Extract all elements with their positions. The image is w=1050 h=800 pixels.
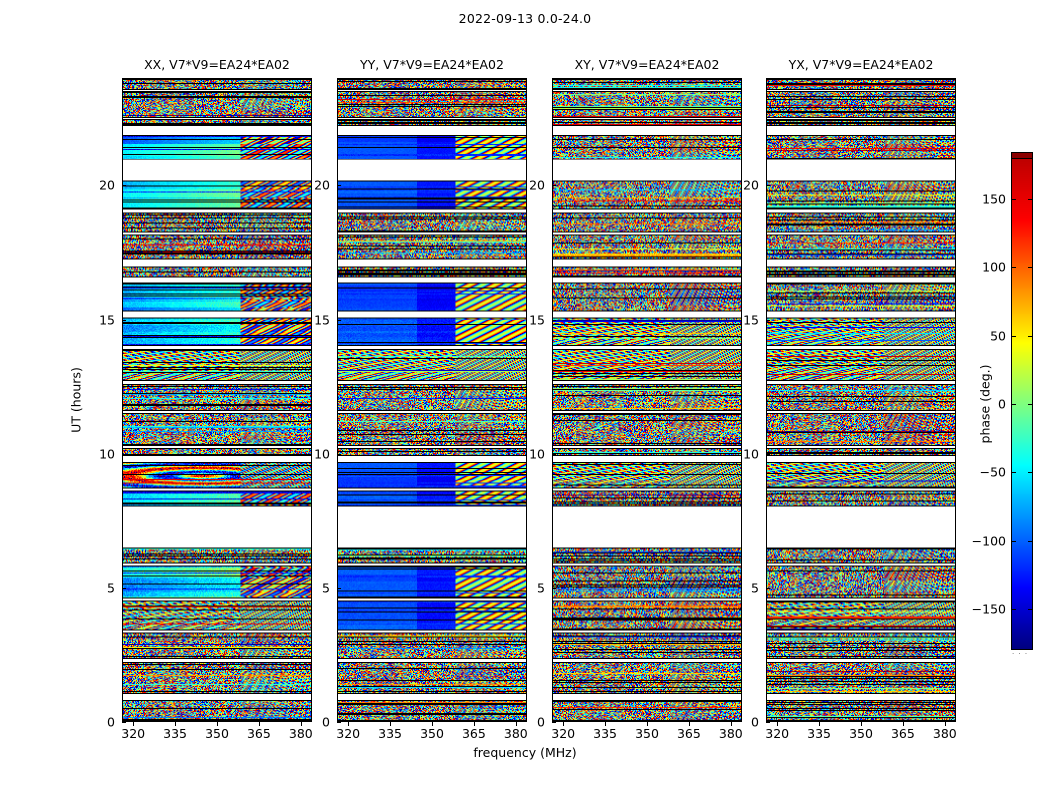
y-tick [766,454,770,455]
panel-title-yx: YX, V7*V9=EA24*EA02 [766,57,956,73]
y-tick [337,722,341,723]
y-tick-label: 10 [314,446,330,461]
colorbar-tick [1028,472,1033,473]
y-tick [766,588,770,589]
y-tick [766,320,770,321]
heatmap-image-yy [338,79,526,721]
y-tick-label: 10 [99,446,115,461]
colorbar-tick [1011,404,1016,405]
colorbar-tick [1028,609,1033,610]
y-tick-label: 20 [314,178,330,193]
y-tick [766,722,770,723]
y-tick [552,588,556,589]
y-tick [337,185,341,186]
y-tick-label: 5 [107,580,115,595]
y-tick [552,722,556,723]
heatmap-panel-yx[interactable] [766,78,956,722]
y-tick [337,320,341,321]
colorbar-tick [1011,199,1016,200]
heatmap-panel-yy[interactable] [337,78,527,722]
figure-canvas: 2022-09-13 0.0-24.0 XX, V7*V9=EA24*EA02 … [0,0,1050,800]
y-tick-label: 15 [529,312,545,327]
y-tick-label: 5 [322,580,330,595]
x-tick-label: 350 [849,726,873,741]
colorbar-tick [1028,199,1033,200]
y-tick [337,588,341,589]
y-tick-label: 15 [743,312,759,327]
y-tick-label: 0 [751,715,759,730]
x-tick-label: 320 [336,726,360,741]
colorbar-tick [1028,541,1033,542]
colorbar-tick [1011,541,1016,542]
y-tick-label: 5 [751,580,759,595]
x-tick-label: 380 [719,726,743,741]
y-tick [122,320,126,321]
y-tick-label: 5 [537,580,545,595]
colorbar-tick [1011,267,1016,268]
y-tick [122,185,126,186]
x-tick-label: 365 [891,726,915,741]
heatmap-panel-xy[interactable] [552,78,742,722]
y-tick-label: 20 [529,178,545,193]
y-tick [552,185,556,186]
y-tick-label: 0 [107,715,115,730]
y-tick [766,185,770,186]
x-tick-label: 320 [765,726,789,741]
y-tick-label: 10 [529,446,545,461]
x-tick-label: 380 [504,726,528,741]
heatmap-image-yx [767,79,955,721]
colorbar-tick [1011,609,1016,610]
panel-title-yy: YY, V7*V9=EA24*EA02 [337,57,527,73]
x-tick-label: 365 [247,726,271,741]
y-tick-label: 10 [743,446,759,461]
figure-suptitle: 2022-09-13 0.0-24.0 [0,11,1050,26]
x-tick-label: 335 [807,726,831,741]
x-tick-label: 335 [163,726,187,741]
x-tick-label: 335 [378,726,402,741]
x-tick-label: 380 [933,726,957,741]
colorbar-tick [1011,336,1016,337]
x-axis-label: frequency (MHz) [0,745,1050,760]
colorbar-tick-label: 100 [958,260,1006,275]
heatmap-panel-xx[interactable] [122,78,312,722]
x-tick-label: 350 [205,726,229,741]
heatmap-image-xx [123,79,311,721]
y-tick [122,454,126,455]
colorbar-under-cap: · · · · · [1012,652,1032,656]
y-tick [122,588,126,589]
x-tick-label: 320 [121,726,145,741]
heatmap-image-xy [553,79,741,721]
x-tick-label: 350 [635,726,659,741]
colorbar-tick-label: −100 [958,533,1006,548]
y-tick [552,320,556,321]
colorbar-tick [1028,267,1033,268]
y-axis-label: UT (hours) [69,367,84,433]
x-tick-label: 320 [551,726,575,741]
panel-title-xx: XX, V7*V9=EA24*EA02 [122,57,312,73]
x-tick-label: 380 [289,726,313,741]
y-tick [122,722,126,723]
x-tick-label: 365 [677,726,701,741]
x-tick-label: 350 [420,726,444,741]
panel-title-xy: XY, V7*V9=EA24*EA02 [552,57,742,73]
x-tick-label: 365 [462,726,486,741]
colorbar-tick [1028,404,1033,405]
x-tick-label: 335 [593,726,617,741]
colorbar-tick-label: −50 [958,465,1006,480]
y-tick-label: 20 [743,178,759,193]
y-tick-label: 15 [99,312,115,327]
colorbar-tick [1011,472,1016,473]
y-tick [552,454,556,455]
y-tick [337,454,341,455]
colorbar-tick-label: 0 [958,397,1006,412]
y-tick-label: 0 [537,715,545,730]
colorbar-tick-label: −150 [958,602,1006,617]
y-tick-label: 20 [99,178,115,193]
colorbar-tick-label: 150 [958,192,1006,207]
y-tick-label: 0 [322,715,330,730]
y-tick-label: 15 [314,312,330,327]
colorbar-tick-label: 50 [958,328,1006,343]
colorbar-tick [1028,336,1033,337]
